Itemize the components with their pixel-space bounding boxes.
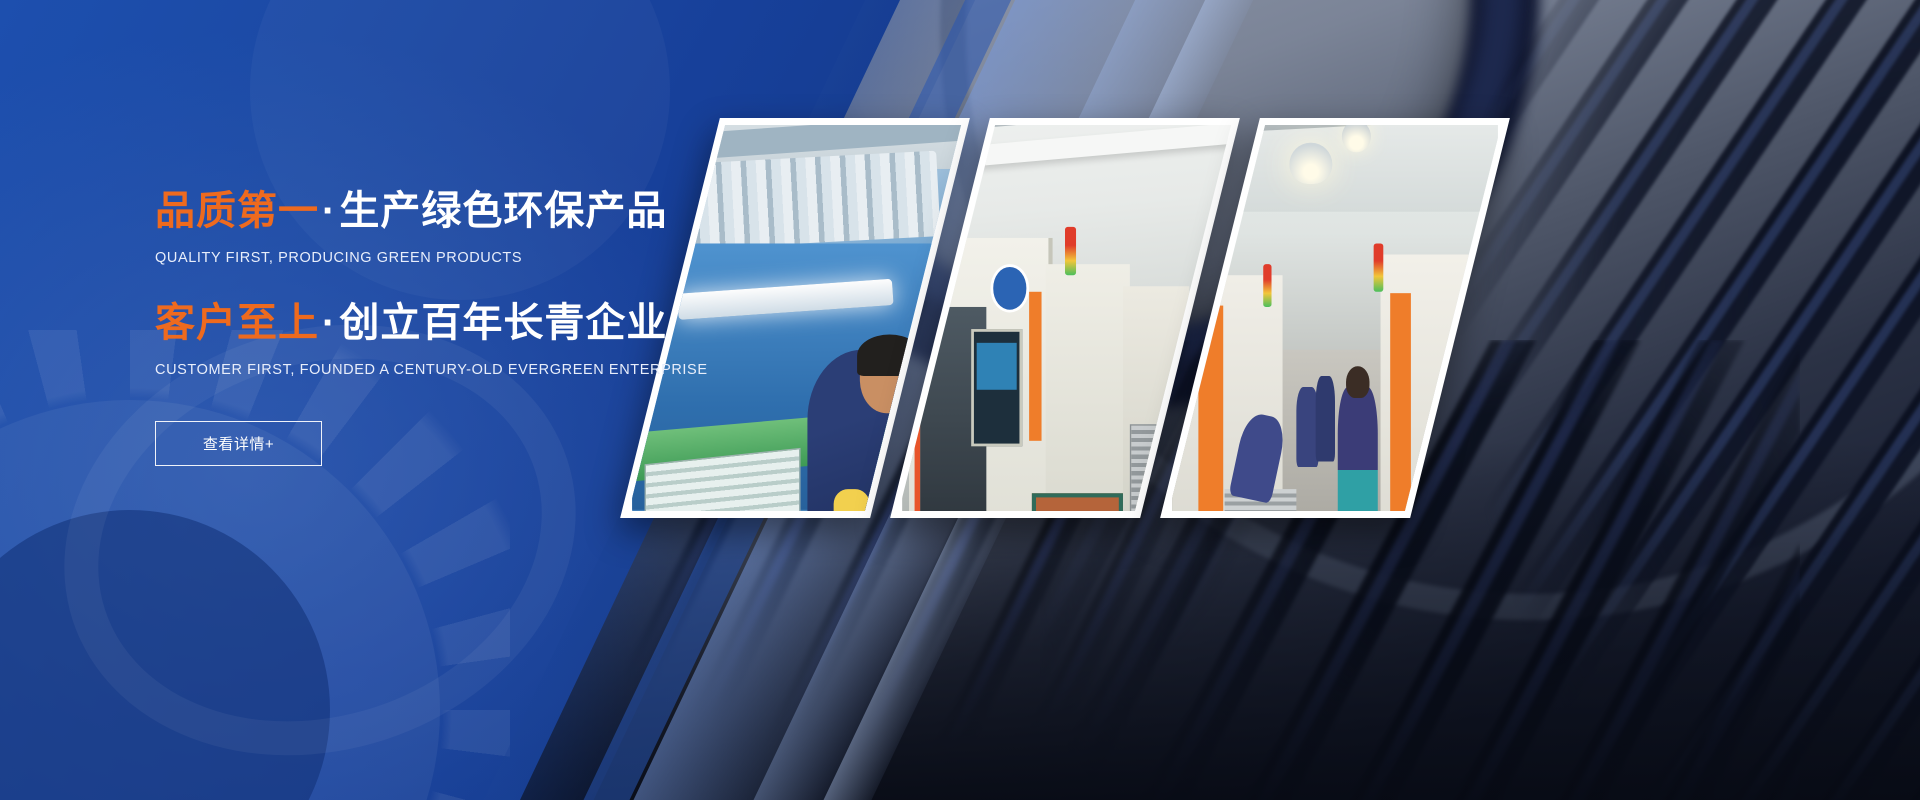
headline-1-subtitle: QUALITY FIRST, PRODUCING GREEN PRODUCTS	[155, 250, 795, 266]
headline-1-rest: 生产绿色环保产品	[339, 189, 667, 233]
view-details-button[interactable]: 查看详情+	[155, 421, 322, 466]
headline-1: 品质第一·生产绿色环保产品	[155, 190, 795, 233]
headline-2-rest: 创立百年长青企业	[339, 301, 667, 345]
copy-spacer	[155, 266, 795, 302]
headline-2-highlight: 客户至上	[155, 301, 319, 345]
headline-2: 客户至上·创立百年长青企业	[155, 302, 795, 345]
headline-1-highlight: 品质第一	[155, 189, 319, 233]
headline-1-separator: ·	[319, 189, 339, 233]
hero-banner: 品质第一·生产绿色环保产品 QUALITY FIRST, PRODUCING G…	[0, 0, 1920, 800]
photo-collage	[640, 118, 1880, 538]
headline-2-separator: ·	[319, 301, 339, 345]
banner-copy: 品质第一·生产绿色环保产品 QUALITY FIRST, PRODUCING G…	[155, 190, 795, 466]
headline-2-subtitle: CUSTOMER FIRST, FOUNDED A CENTURY-OLD EV…	[155, 362, 795, 378]
